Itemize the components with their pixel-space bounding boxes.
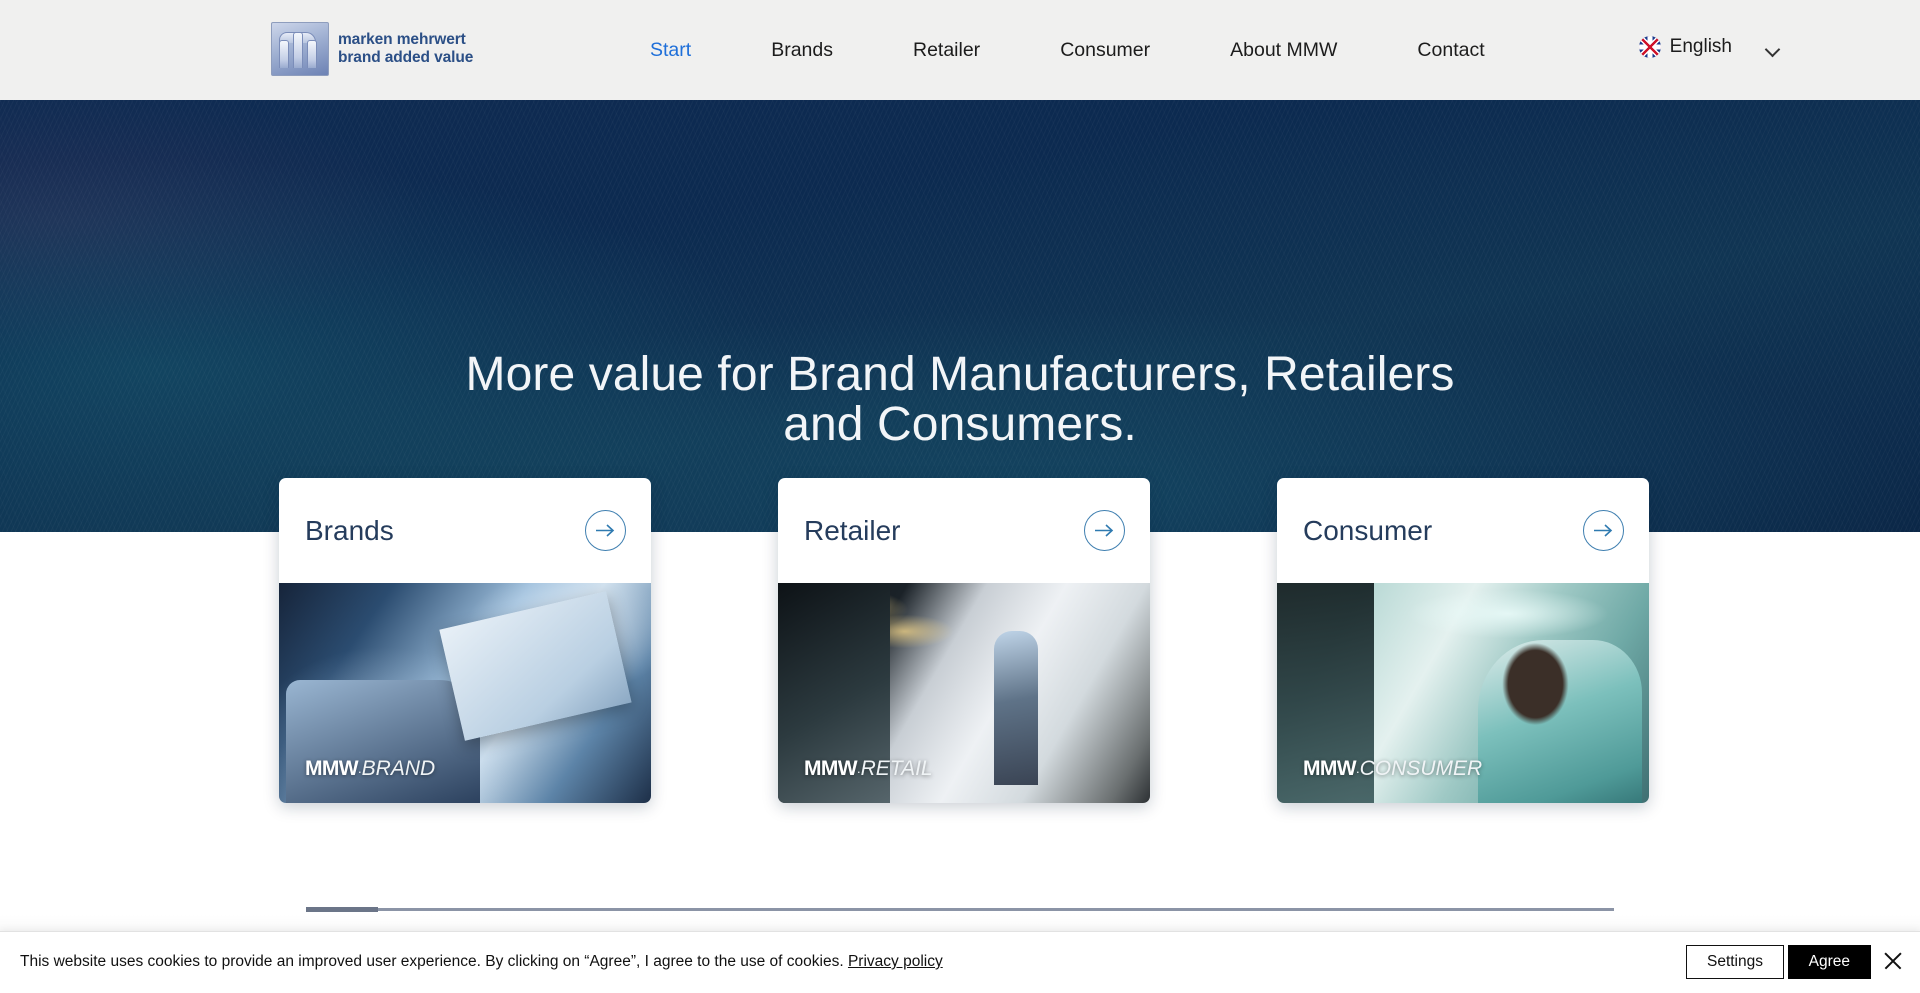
teaser-card-consumer[interactable]: Consumer MMW.CONSUMER: [1277, 478, 1649, 803]
arrow-right-icon[interactable]: [1583, 510, 1624, 551]
hero-headline-line2: and Consumers.: [783, 398, 1137, 451]
nav-item-about-mmw[interactable]: About MMW: [1230, 39, 1337, 62]
card-image-brands: MMW.BRAND: [279, 583, 651, 803]
logo-tagline-line1: marken mehrwert: [338, 31, 473, 49]
watermark-bold: MMW: [804, 757, 857, 780]
chevron-down-icon[interactable]: [1766, 44, 1780, 52]
nav-item-start[interactable]: Start: [650, 39, 691, 62]
watermark-italic: BRAND: [362, 757, 436, 780]
teaser-card-retailer[interactable]: Retailer MMW.RETAIL: [778, 478, 1150, 803]
watermark-italic: RETAIL: [861, 757, 933, 780]
uk-flag-icon: [1639, 36, 1661, 58]
mmw-logo-mark-icon: [271, 22, 329, 76]
card-image-retailer: MMW.RETAIL: [778, 583, 1150, 803]
language-selector[interactable]: English: [1639, 36, 1732, 58]
watermark-bold: MMW: [305, 757, 358, 780]
card-watermark: MMW.RETAIL: [804, 757, 933, 781]
page-title: More value for Brand Manufacturers, Reta…: [0, 350, 1920, 450]
logo-tagline-line2: brand added value: [338, 49, 473, 67]
card-watermark: MMW.CONSUMER: [1303, 757, 1482, 781]
language-label: English: [1670, 36, 1732, 58]
site-logo[interactable]: marken mehrwert brand added value: [271, 22, 473, 76]
nav-item-brands[interactable]: Brands: [771, 39, 833, 62]
card-title: Brands: [305, 515, 394, 547]
settings-button[interactable]: Settings: [1686, 945, 1784, 979]
arrow-right-icon[interactable]: [585, 510, 626, 551]
nav-item-retailer[interactable]: Retailer: [913, 39, 980, 62]
watermark-bold: MMW: [1303, 757, 1356, 780]
card-image-consumer: MMW.CONSUMER: [1277, 583, 1649, 803]
main-navigation: Start Brands Retailer Consumer About MMW…: [650, 0, 1485, 100]
cookie-message-text: This website uses cookies to provide an …: [20, 953, 844, 970]
watermark-italic: CONSUMER: [1360, 757, 1483, 780]
close-icon[interactable]: [1882, 950, 1904, 972]
logo-tagline: marken mehrwert brand added value: [338, 31, 473, 67]
site-header: marken mehrwert brand added value Start …: [0, 0, 1920, 100]
cookie-consent-banner: This website uses cookies to provide an …: [0, 931, 1920, 993]
card-title: Consumer: [1303, 515, 1432, 547]
cookie-message: This website uses cookies to provide an …: [20, 953, 943, 971]
slider-progress-track[interactable]: [306, 908, 1614, 911]
slider-progress-indicator[interactable]: [306, 907, 378, 912]
hero-texture-overlay-2: [0, 100, 1920, 532]
arrow-right-icon[interactable]: [1084, 510, 1125, 551]
nav-item-consumer[interactable]: Consumer: [1060, 39, 1150, 62]
teaser-card-brands[interactable]: Brands MMW.BRAND: [279, 478, 651, 803]
teaser-card-group: Brands MMW.BRAND Retailer: [279, 478, 1649, 803]
hero-section: More value for Brand Manufacturers, Reta…: [0, 100, 1920, 532]
card-watermark: MMW.BRAND: [305, 757, 435, 781]
card-title: Retailer: [804, 515, 900, 547]
hero-headline-line1: More value for Brand Manufacturers, Reta…: [466, 348, 1455, 401]
nav-item-contact[interactable]: Contact: [1417, 39, 1484, 62]
agree-button[interactable]: Agree: [1788, 945, 1871, 979]
privacy-policy-link[interactable]: Privacy policy: [848, 953, 943, 970]
